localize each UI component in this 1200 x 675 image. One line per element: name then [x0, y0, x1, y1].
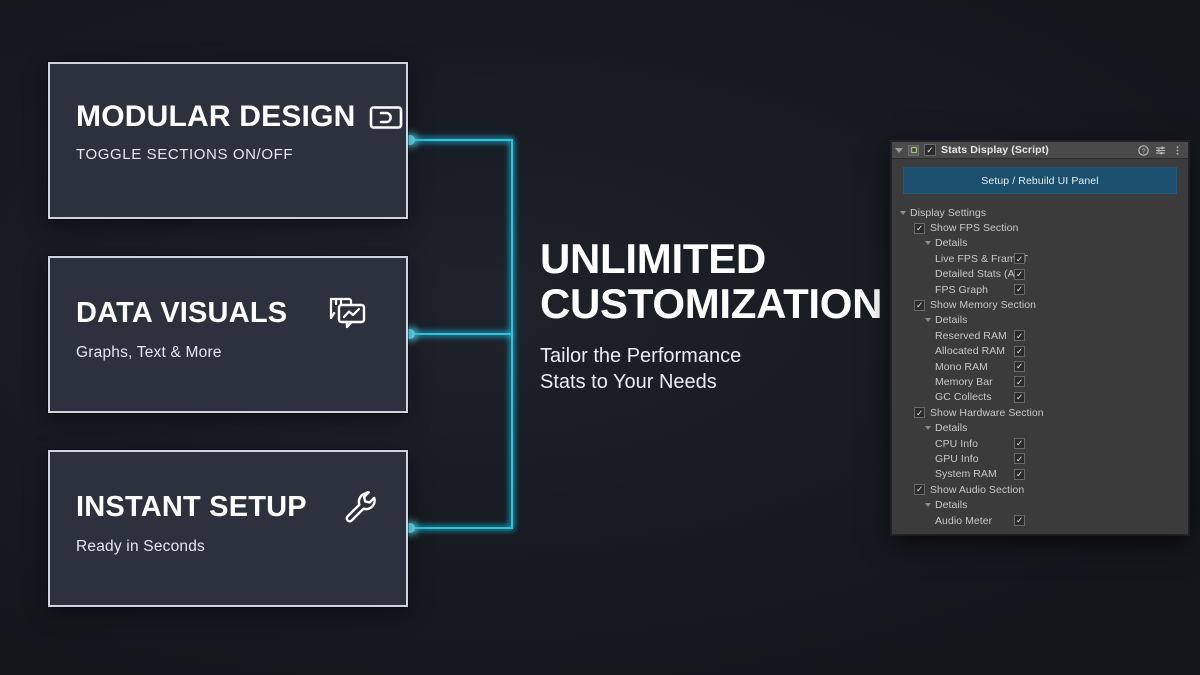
headline-subtitle-line-1: Tailor the Performance — [540, 343, 890, 370]
feature-card-modular-design[interactable]: MODULAR DESIGN TOGGLE SECTIONS ON/OFF — [48, 62, 408, 219]
connector-bus-path — [410, 140, 512, 528]
unity-inspector-panel[interactable]: ✓ Stats Display (Script) ? Setup — [891, 141, 1189, 535]
row-checkbox[interactable]: ✓ — [914, 407, 925, 418]
inspector-row-label: Audio Meter — [935, 515, 992, 527]
inspector-row[interactable]: Details — [892, 236, 1188, 251]
row-checkbox[interactable]: ✓ — [1014, 361, 1025, 372]
chart-bubble-icon — [327, 296, 367, 330]
inspector-row-label: Show Memory Section — [930, 299, 1036, 311]
inspector-row[interactable]: GC Collects✓ — [892, 390, 1188, 405]
inspector-row[interactable]: GPU Info✓ — [892, 451, 1188, 466]
card-title: MODULAR DESIGN — [76, 102, 355, 132]
headline-line-2: CUSTOMIZATION — [540, 281, 890, 326]
foldout-arrow-icon[interactable] — [925, 426, 931, 430]
headline-block: UNLIMITED CUSTOMIZATION Tailor the Perfo… — [540, 236, 890, 396]
card-title: DATA VISUALS — [76, 299, 287, 328]
card-subtitle: Graphs, Text & More — [76, 344, 380, 362]
row-checkbox[interactable]: ✓ — [1014, 330, 1025, 341]
inspector-row-label: Mono RAM — [935, 361, 988, 373]
inspector-row[interactable]: Details — [892, 420, 1188, 435]
foldout-arrow-icon[interactable] — [925, 241, 931, 245]
inspector-row[interactable]: Memory Bar✓ — [892, 374, 1188, 389]
inspector-row-label: Reserved RAM — [935, 330, 1007, 342]
inspector-row[interactable]: System RAM✓ — [892, 467, 1188, 482]
inspector-row[interactable]: Display Settings — [892, 205, 1188, 220]
row-checkbox[interactable]: ✓ — [1014, 392, 1025, 403]
inspector-row[interactable]: Audio Meter✓ — [892, 513, 1188, 528]
wrench-icon — [343, 490, 377, 524]
inspector-header: ✓ Stats Display (Script) ? — [892, 142, 1188, 159]
inspector-title: Stats Display (Script) — [941, 144, 1049, 156]
headline-subtitle: Tailor the Performance Stats to Your Nee… — [540, 343, 890, 396]
inspector-row-label: Memory Bar — [935, 376, 993, 388]
help-icon[interactable]: ? — [1137, 144, 1149, 156]
card-subtitle: Ready in Seconds — [76, 538, 380, 556]
kebab-menu-icon[interactable] — [1171, 144, 1183, 156]
row-checkbox[interactable]: ✓ — [1014, 438, 1025, 449]
inspector-row-label: Show Audio Section — [930, 484, 1024, 496]
inspector-row[interactable]: ✓Show Hardware Section — [892, 405, 1188, 420]
inspector-row[interactable]: Details — [892, 313, 1188, 328]
inspector-row[interactable]: Detailed Stats (AV(✓ — [892, 267, 1188, 282]
inspector-row[interactable]: Details — [892, 497, 1188, 512]
inspector-row[interactable]: ✓Show FPS Section — [892, 220, 1188, 235]
inspector-row-label: Display Settings — [910, 207, 986, 219]
row-checkbox[interactable]: ✓ — [1014, 453, 1025, 464]
svg-text:?: ? — [1141, 148, 1145, 155]
inspector-row-label: GPU Info — [935, 453, 979, 465]
foldout-arrow-icon[interactable] — [925, 503, 931, 507]
inspector-row[interactable]: ✓Show Audio Section — [892, 482, 1188, 497]
card-heading-row: DATA VISUALS — [76, 296, 380, 330]
preset-icon[interactable] — [1154, 144, 1166, 156]
foldout-arrow-icon[interactable] — [895, 148, 903, 153]
row-checkbox[interactable]: ✓ — [1014, 515, 1025, 526]
inspector-row-label: Details — [935, 499, 967, 511]
inspector-row[interactable]: ✓Show Memory Section — [892, 297, 1188, 312]
inspector-row-label: System RAM — [935, 468, 997, 480]
card-title: INSTANT SETUP — [76, 493, 307, 522]
inspector-row-label: Details — [935, 237, 967, 249]
inspector-row-label: CPU Info — [935, 438, 978, 450]
script-component-icon — [908, 145, 919, 156]
component-enabled-checkbox[interactable]: ✓ — [924, 144, 936, 156]
inspector-row[interactable]: Mono RAM✓ — [892, 359, 1188, 374]
inspector-row-label: Allocated RAM — [935, 345, 1005, 357]
row-checkbox[interactable]: ✓ — [914, 300, 925, 311]
row-checkbox[interactable]: ✓ — [1014, 346, 1025, 357]
row-checkbox[interactable]: ✓ — [1014, 253, 1025, 264]
inspector-row-label: GC Collects — [935, 391, 992, 403]
foldout-arrow-icon[interactable] — [900, 211, 906, 215]
card-heading-row: INSTANT SETUP — [76, 490, 380, 524]
inspector-row-label: FPS Graph — [935, 284, 988, 296]
card-heading-row: MODULAR DESIGN — [76, 102, 380, 132]
headline-subtitle-line-2: Stats to Your Needs — [540, 369, 890, 396]
inspector-row-label: Details — [935, 314, 967, 326]
inspector-row-label: Show FPS Section — [930, 222, 1018, 234]
row-checkbox[interactable]: ✓ — [914, 223, 925, 234]
setup-rebuild-ui-panel-button[interactable]: Setup / Rebuild UI Panel — [903, 167, 1177, 194]
toggle-switch-icon — [369, 105, 403, 130]
inspector-row-label: Show Hardware Section — [930, 407, 1044, 419]
row-checkbox[interactable]: ✓ — [1014, 269, 1025, 280]
inspector-row-label: Details — [935, 422, 967, 434]
foldout-arrow-icon[interactable] — [925, 318, 931, 322]
row-checkbox[interactable]: ✓ — [1014, 469, 1025, 480]
row-checkbox[interactable]: ✓ — [1014, 284, 1025, 295]
display-settings-tree: Display Settings✓Show FPS SectionDetails… — [892, 205, 1188, 528]
inspector-row[interactable]: CPU Info✓ — [892, 436, 1188, 451]
inspector-row[interactable]: Reserved RAM✓ — [892, 328, 1188, 343]
row-checkbox[interactable]: ✓ — [914, 484, 925, 495]
inspector-row[interactable]: Live FPS & FrameT✓ — [892, 251, 1188, 266]
card-subtitle: TOGGLE SECTIONS ON/OFF — [76, 146, 380, 163]
feature-card-data-visuals[interactable]: DATA VISUALS Graphs, Text & More — [48, 256, 408, 413]
inspector-row[interactable]: FPS Graph✓ — [892, 282, 1188, 297]
inspector-row-label: Detailed Stats (AV( — [935, 268, 1024, 280]
feature-card-instant-setup[interactable]: INSTANT SETUP Ready in Seconds — [48, 450, 408, 607]
inspector-row[interactable]: Allocated RAM✓ — [892, 344, 1188, 359]
row-checkbox[interactable]: ✓ — [1014, 376, 1025, 387]
headline-line-1: UNLIMITED — [540, 236, 890, 281]
